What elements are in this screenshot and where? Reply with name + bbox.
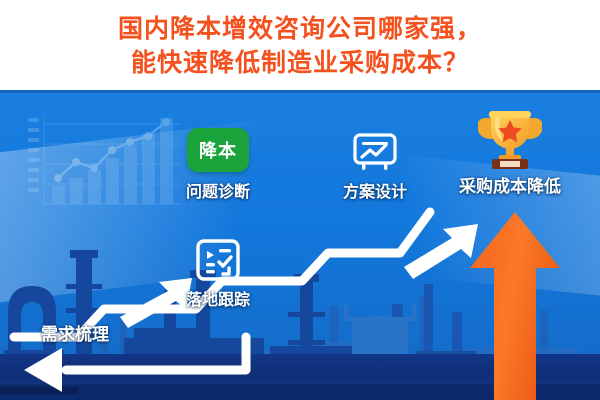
title-band: 国内降本增效咨询公司哪家强， 能快速降低制造业采购成本？ — [0, 0, 600, 92]
chart-board-icon — [352, 132, 398, 174]
checklist-document-icon-wrap — [160, 238, 276, 282]
node-diagnosis[interactable]: 降本 问题诊断 — [172, 128, 264, 202]
scene: 需求梳理 落地跟踪 降本 问题诊断 — [0, 92, 600, 400]
node-tracking[interactable]: 落地跟踪 — [160, 238, 276, 310]
node-tracking-label: 落地跟踪 — [160, 286, 276, 310]
node-result[interactable]: 采购成本降低 — [440, 108, 580, 197]
chart-board-icon-wrap — [320, 132, 430, 174]
node-result-label: 采购成本降低 — [440, 172, 580, 197]
trophy-icon-wrap — [440, 108, 580, 170]
node-diagnosis-label: 问题诊断 — [172, 178, 264, 202]
node-design[interactable]: 方案设计 — [320, 132, 430, 202]
green-badge-icon: 降本 — [187, 128, 249, 172]
trophy-icon — [478, 108, 542, 170]
page-title-line-1: 国内降本增效咨询公司哪家强， — [118, 12, 482, 46]
title-divider — [0, 90, 600, 93]
checklist-document-icon — [195, 238, 241, 282]
page-title-line-2: 能快速降低制造业采购成本？ — [131, 46, 469, 80]
node-design-label: 方案设计 — [320, 178, 430, 202]
node-demand-label: 需求梳理 — [20, 320, 130, 345]
poster: 国内降本增效咨询公司哪家强， 能快速降低制造业采购成本？ — [0, 0, 600, 400]
node-demand[interactable]: 需求梳理 — [20, 320, 130, 345]
